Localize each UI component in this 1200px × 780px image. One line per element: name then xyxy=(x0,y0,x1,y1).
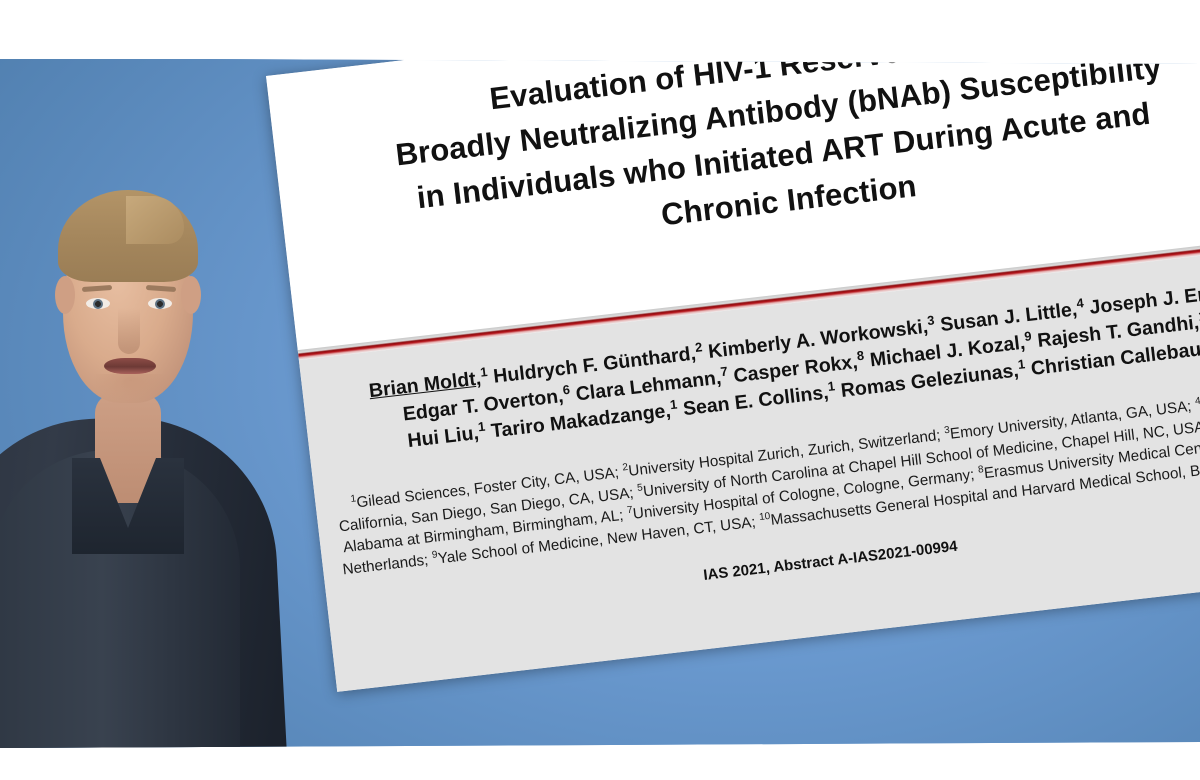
video-frame[interactable]: Evaluation of HIV-1 Reservoir Size and B… xyxy=(0,58,1200,748)
author-sup-12: 1 xyxy=(669,396,678,412)
author-sup-3: 3 xyxy=(926,312,935,328)
author-sup-2: 2 xyxy=(694,339,703,355)
author-sup-11: 1 xyxy=(477,419,486,435)
letterbox-bar-top xyxy=(0,0,1200,59)
author-sup-6: 6 xyxy=(562,382,571,398)
author-sup-1: 1 xyxy=(479,364,488,380)
author-sup-7: 7 xyxy=(720,363,729,379)
author-sup-4: 4 xyxy=(1076,295,1085,311)
author-sup-13: 1 xyxy=(827,378,836,394)
slide-title: Evaluation of HIV-1 Reservoir Size and B… xyxy=(293,58,1200,278)
author-sup-8: 8 xyxy=(856,348,865,364)
letterbox-bar-bottom xyxy=(0,748,1200,780)
video-player-stage: Evaluation of HIV-1 Reservoir Size and B… xyxy=(0,0,1200,780)
slide-layer: Evaluation of HIV-1 Reservoir Size and B… xyxy=(0,58,1200,748)
author-name-11: Hui Liu, xyxy=(406,422,480,452)
author-sup-14: 1 xyxy=(1017,356,1026,372)
author-sup-9: 9 xyxy=(1023,328,1032,344)
presentation-slide[interactable]: Evaluation of HIV-1 Reservoir Size and B… xyxy=(266,58,1200,692)
